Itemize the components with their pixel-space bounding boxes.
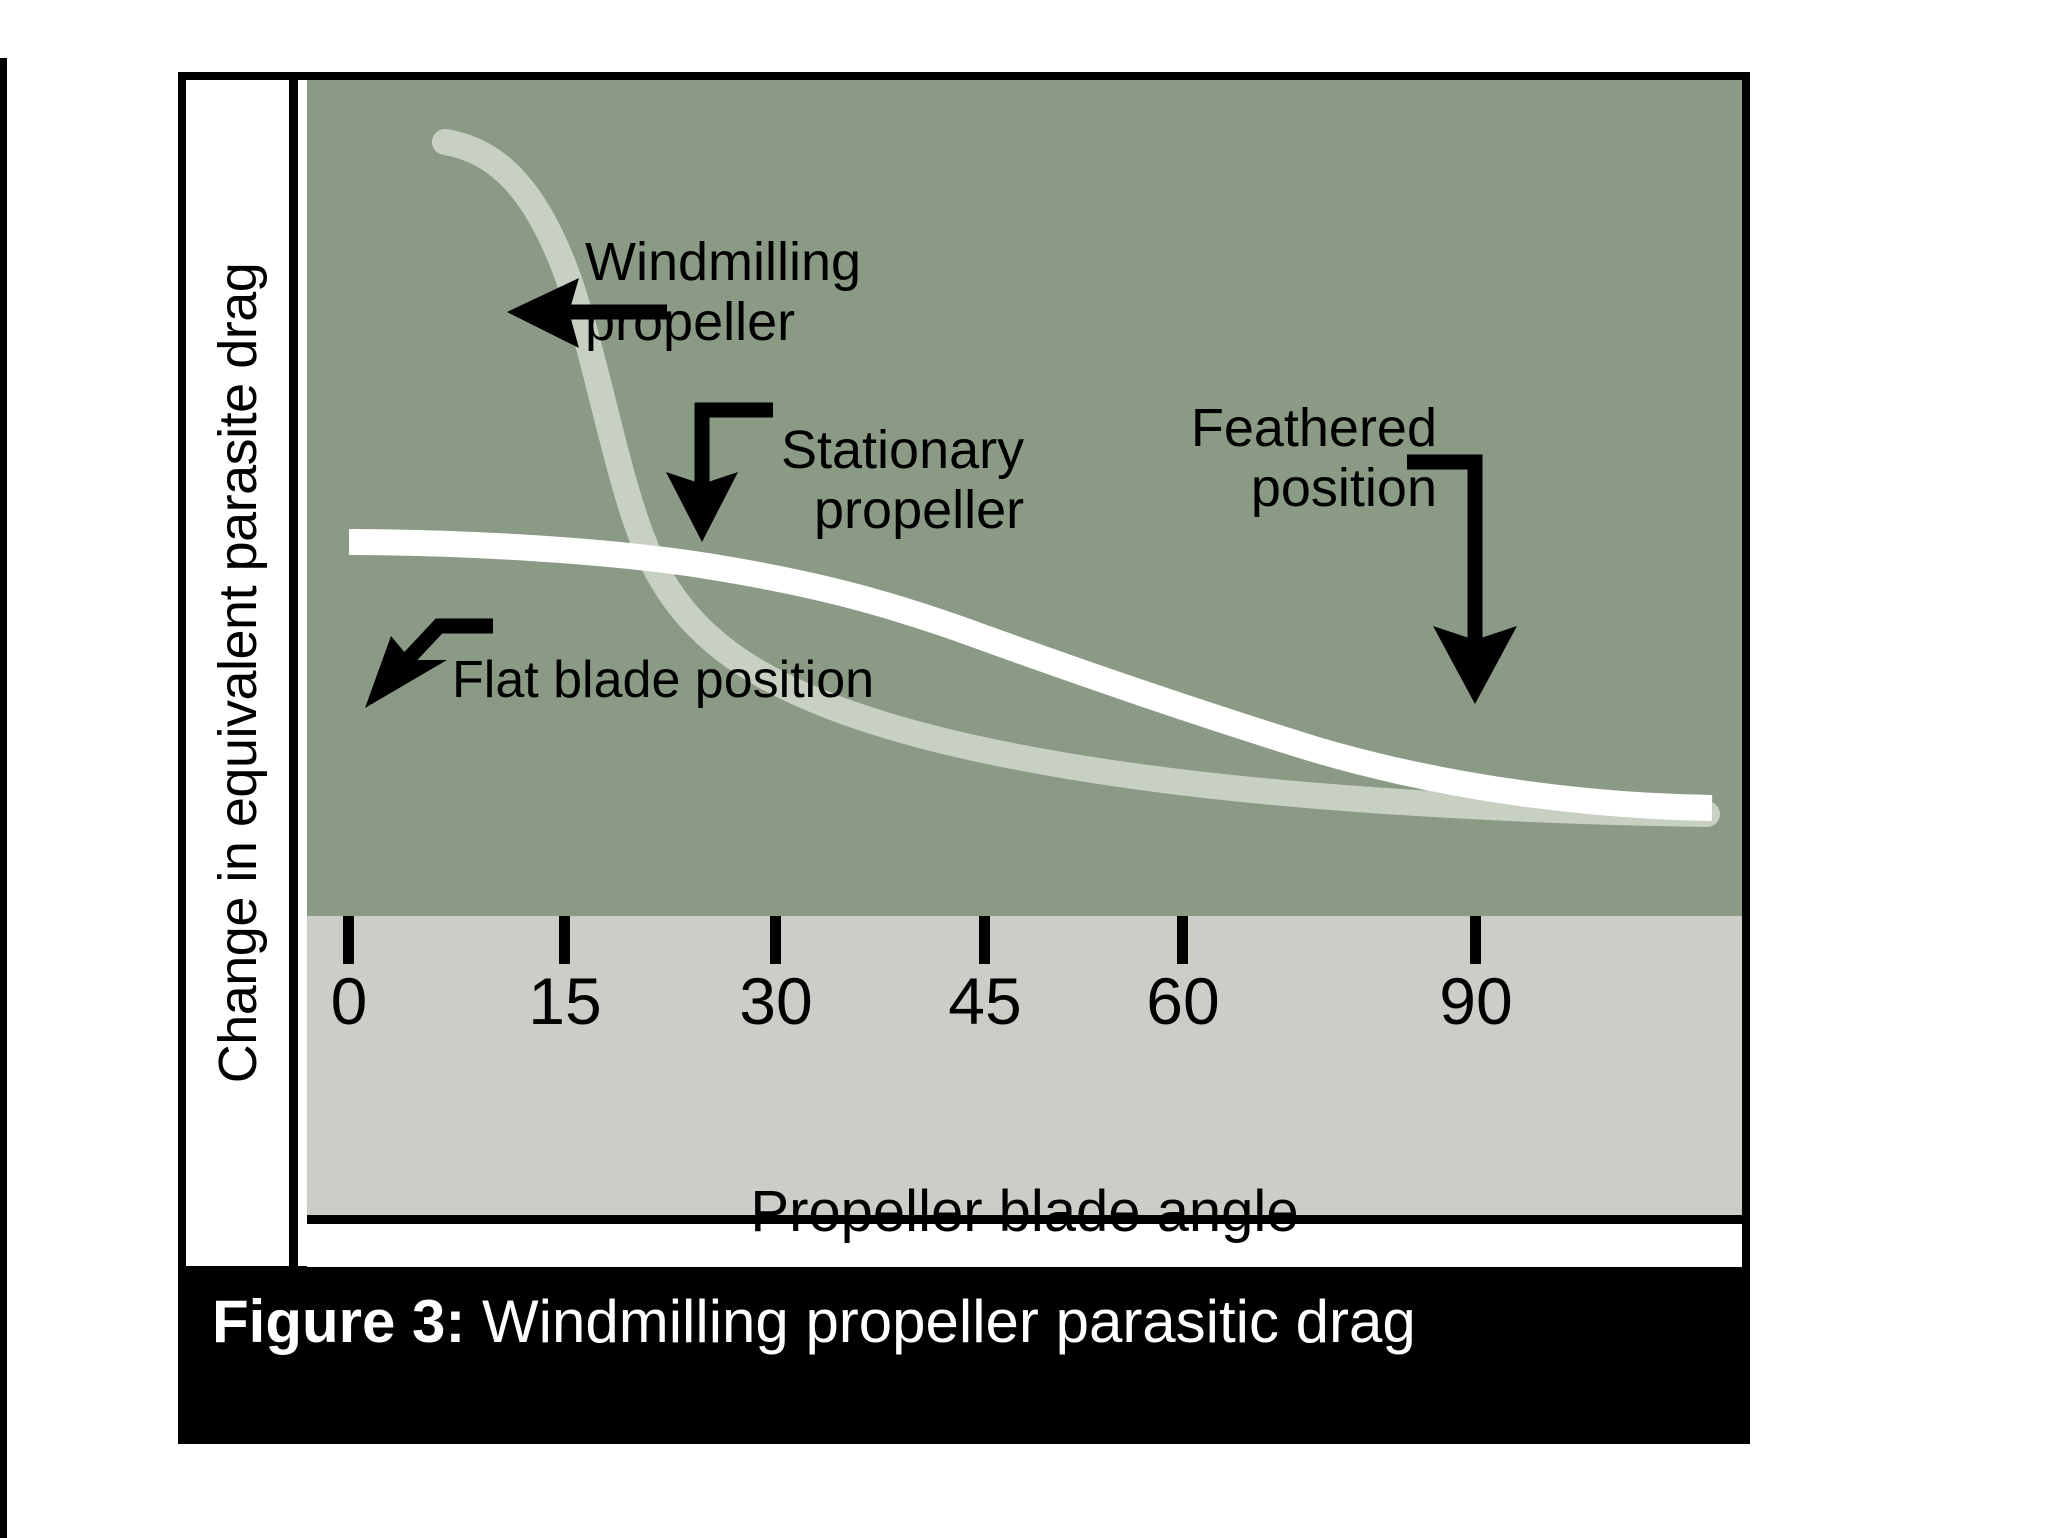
figure-caption-number: Figure 3:	[212, 1288, 465, 1355]
x-tick-mark-90	[1470, 916, 1481, 964]
annotation-feathered-position: Feathered position	[1137, 398, 1437, 518]
page-margin-rule	[0, 58, 7, 1538]
x-axis-ticks: 0 15 30 45 60 90	[307, 916, 1742, 1221]
x-tick-label-45: 45	[948, 964, 1021, 1038]
figure-page: Change in equivalent parasite drag	[0, 0, 2048, 1536]
x-tick-label-0: 0	[331, 964, 368, 1038]
x-tick-label-90: 90	[1439, 964, 1512, 1038]
plot-column: Windmilling propeller Stationary propell…	[307, 80, 1742, 1266]
data-curves	[307, 80, 1742, 916]
x-tick-mark-60	[1177, 916, 1188, 964]
x-tick-label-60: 60	[1146, 964, 1219, 1038]
x-axis-title-wrap: Propeller blade angle	[307, 1215, 1742, 1267]
x-axis-title: Propeller blade angle	[750, 1183, 1298, 1241]
x-tick-mark-0	[343, 916, 354, 964]
x-tick-label-30: 30	[739, 964, 812, 1038]
x-tick-label-15: 15	[528, 964, 601, 1038]
figure-caption: Figure 3: Windmilling propeller parasiti…	[186, 1274, 1742, 1436]
annotation-windmilling-propeller: Windmilling propeller	[585, 232, 861, 352]
figure-caption-text: Windmilling propeller parasitic drag	[465, 1288, 1415, 1355]
y-axis-label-column: Change in equivalent parasite drag	[186, 80, 298, 1266]
x-tick-mark-45	[979, 916, 990, 964]
x-tick-mark-15	[559, 916, 570, 964]
x-tick-mark-30	[770, 916, 781, 964]
y-axis-label: Change in equivalent parasite drag	[207, 263, 269, 1084]
figure-inner-panel: Change in equivalent parasite drag	[186, 80, 1742, 1266]
annotation-flat-blade-position: Flat blade position	[452, 650, 874, 710]
figure-frame: Change in equivalent parasite drag	[178, 72, 1750, 1444]
plot-area: Windmilling propeller Stationary propell…	[307, 80, 1742, 916]
annotation-stationary-propeller: Stationary propeller	[781, 420, 1024, 540]
